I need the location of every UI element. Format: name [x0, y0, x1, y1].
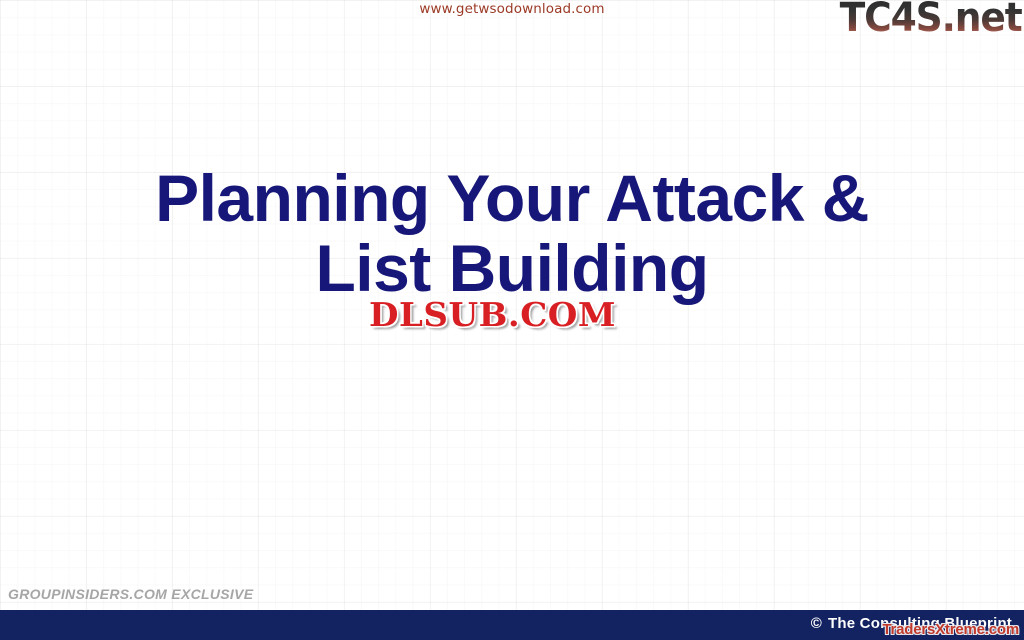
dlsub-watermark: DLSUB.COM — [369, 296, 616, 334]
slide-title: Planning Your Attack & List Building — [0, 163, 1024, 303]
slide-canvas: www.getwsodownload.com TC4S.net Planning… — [0, 0, 1024, 640]
tc4s-brand-logo: TC4S.net — [840, 0, 1022, 38]
footer-bar: ©The Consulting Blueprint TradersXtreme.… — [0, 610, 1024, 640]
tradersxtreme-watermark: TradersXtreme.com — [882, 621, 1019, 638]
slide-title-line-1: Planning Your Attack & — [0, 163, 1024, 233]
groupinsiders-exclusive-note: GROUPINSIDERS.COM EXCLUSIVE — [8, 586, 253, 602]
copyright-icon: © — [811, 615, 822, 632]
slide-title-line-2: List Building — [0, 233, 1024, 303]
